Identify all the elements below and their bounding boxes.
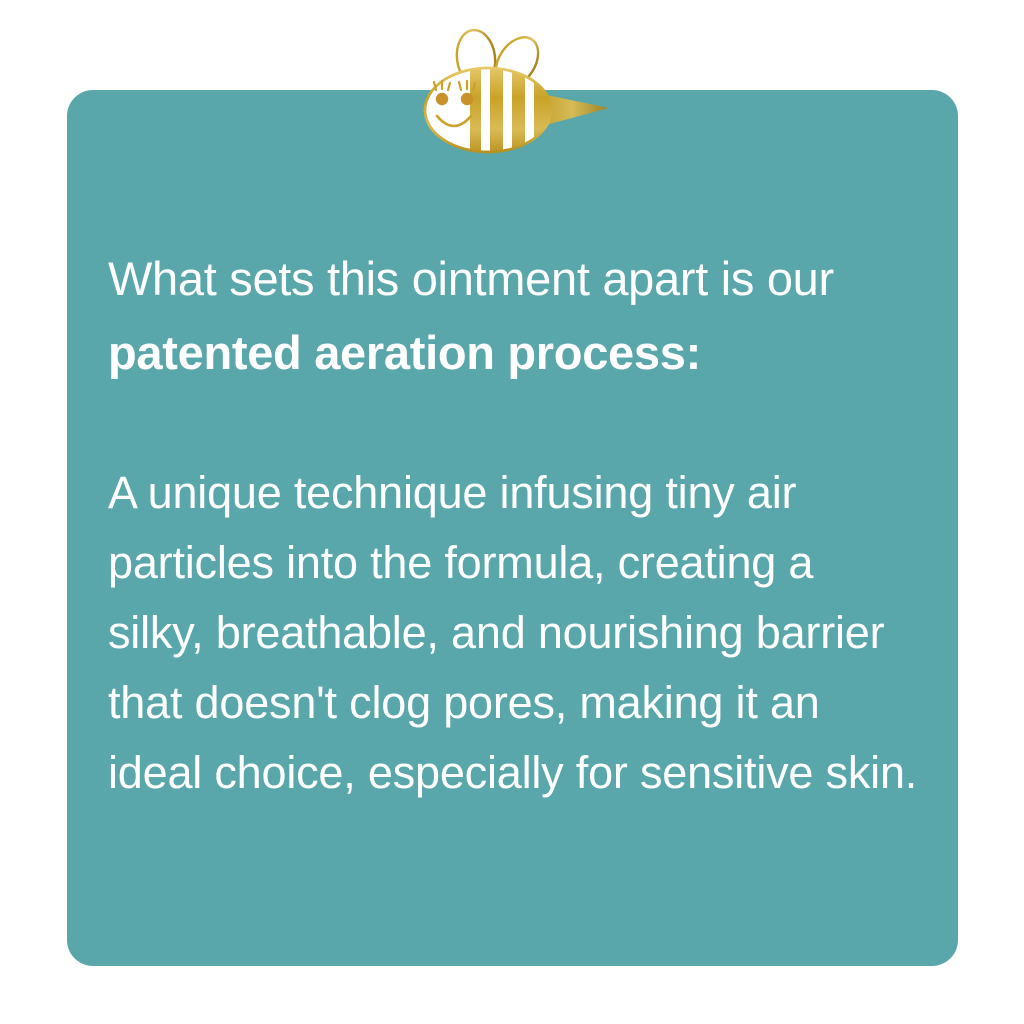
info-card: What sets this ointment apart is our pat… <box>67 90 958 966</box>
headline: What sets this ointment apart is our pat… <box>108 242 928 390</box>
message-block: What sets this ointment apart is our pat… <box>108 242 928 808</box>
paragraph-spacer <box>108 390 928 458</box>
promo-graphic: What sets this ointment apart is our pat… <box>0 0 1024 1024</box>
body-copy: A unique technique infusing tiny air par… <box>108 458 920 808</box>
headline-emphasis: patented aeration process <box>108 326 686 379</box>
headline-lead: What sets this ointment apart is our <box>108 252 834 305</box>
bee-wings <box>454 28 547 95</box>
headline-suffix: : <box>686 326 701 379</box>
